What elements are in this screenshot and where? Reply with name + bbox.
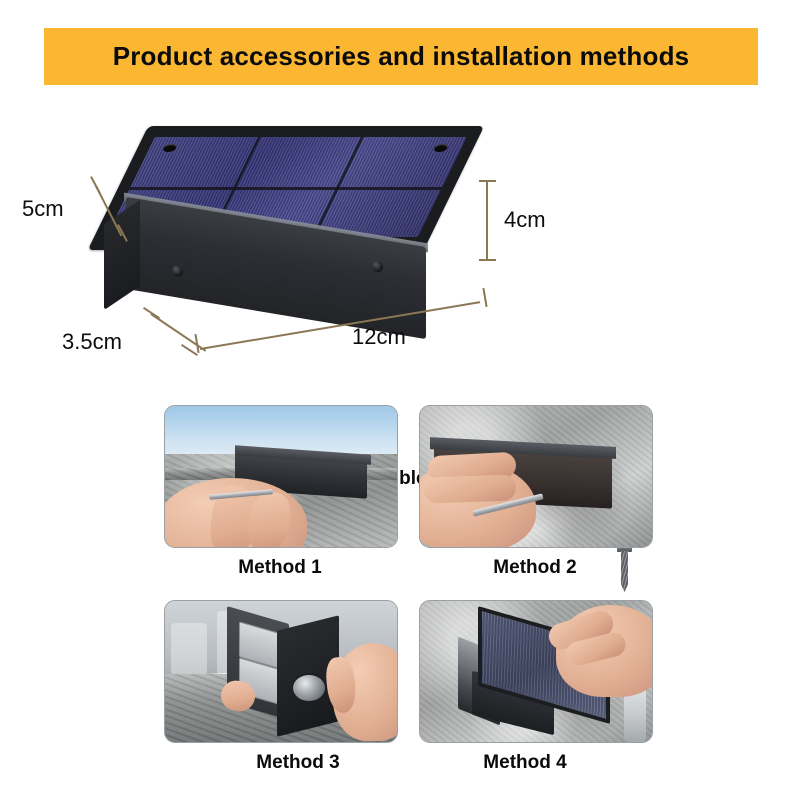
method-label-3: Method 3: [182, 752, 414, 774]
dimension-label-3p5cm: 3.5cm: [62, 329, 122, 355]
method-cell-3[interactable]: Method 3: [164, 600, 396, 774]
method-cell-1[interactable]: Method 1: [164, 405, 396, 579]
method-photo-2[interactable]: [419, 405, 653, 548]
dimension-label-12cm: 12cm: [352, 324, 406, 350]
method-photo-1[interactable]: [164, 405, 398, 548]
dimension-cap-5cm-top: [90, 176, 101, 194]
method-label-1: Method 1: [164, 557, 396, 579]
finger-2: [424, 474, 517, 503]
product-hero: 5cm 4cm 3.5cm 12cm Delivery double-sided…: [0, 96, 800, 396]
product-illustration: [104, 126, 472, 361]
dimension-cap-12cm-right: [482, 288, 487, 307]
method-photo-4[interactable]: [419, 600, 653, 743]
page-title: Product accessories and installation met…: [113, 41, 690, 72]
method-photo-3[interactable]: [164, 600, 398, 743]
body-screw-left: [172, 265, 183, 278]
sensor-lens: [291, 673, 327, 703]
header-banner: Product accessories and installation met…: [44, 28, 758, 85]
dimension-cap-4cm-top: [479, 180, 496, 182]
dimension-line-4cm: [486, 180, 488, 260]
method-label-4: Method 4: [409, 752, 641, 774]
dimension-label-4cm: 4cm: [504, 207, 546, 233]
background-streak-1: [171, 623, 207, 675]
method-cell-4[interactable]: Method 4: [419, 600, 651, 774]
dimension-cap-4cm-bottom: [479, 259, 496, 261]
body-screw-right: [372, 260, 383, 273]
method-label-2: Method 2: [419, 557, 651, 579]
dimension-label-5cm: 5cm: [22, 196, 64, 222]
installation-methods-grid: Method 1 Method 2: [0, 405, 800, 800]
method-cell-2[interactable]: Method 2: [419, 405, 651, 579]
